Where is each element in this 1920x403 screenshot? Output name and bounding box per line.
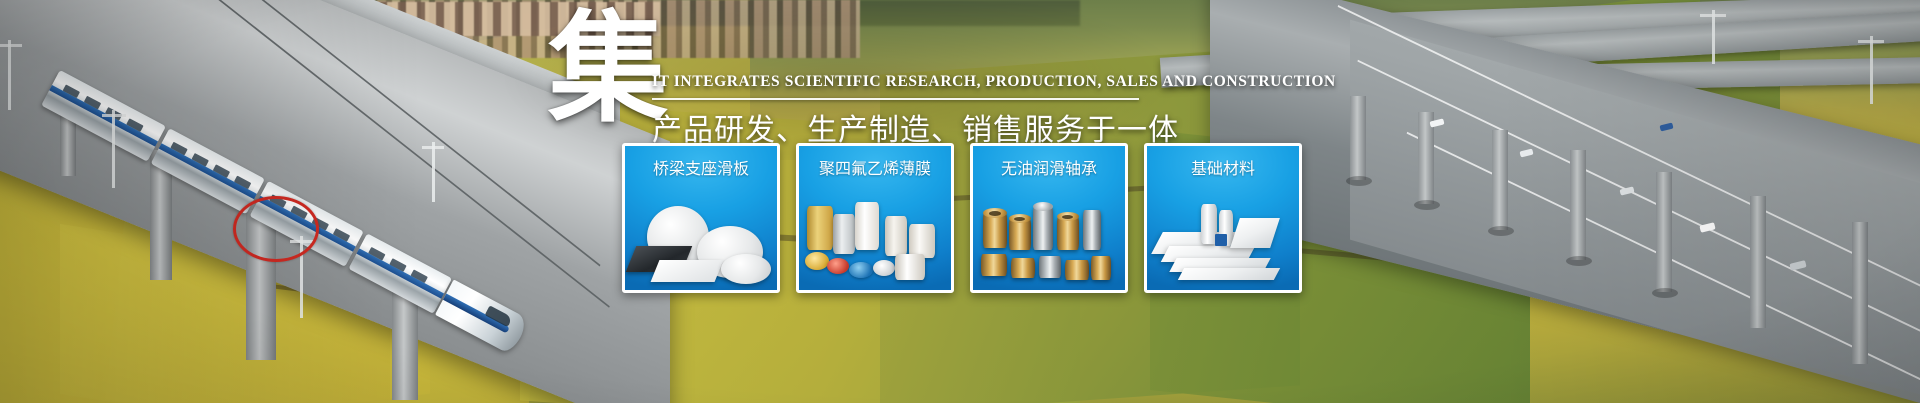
product-card-oil-free-bearing[interactable]: 无油润滑轴承 <box>970 143 1128 293</box>
hero-banner: 集 IT INTEGRATES SCIENTIFIC RESEARCH, PRO… <box>0 0 1920 403</box>
product-card-title: 聚四氟乙烯薄膜 <box>799 155 951 179</box>
product-card-base-material[interactable]: 基础材料 <box>1144 143 1302 293</box>
tagline-english: IT INTEGRATES SCIENTIFIC RESEARCH, PRODU… <box>652 73 1336 91</box>
product-card-title: 无油润滑轴承 <box>973 155 1125 179</box>
product-image-oil-free-bearings <box>973 188 1125 290</box>
product-card-bridge-bearing-slide-plate[interactable]: 桥梁支座滑板 <box>622 143 780 293</box>
product-image-base-materials <box>1147 188 1299 290</box>
product-card-ptfe-film[interactable]: 聚四氟乙烯薄膜 <box>796 143 954 293</box>
brand-character: 集 <box>548 10 668 130</box>
headline-divider <box>652 98 1139 100</box>
product-image-bridge-bearing-slide-plate <box>625 188 777 290</box>
product-image-ptfe-film-rolls <box>799 188 951 290</box>
product-card-title: 基础材料 <box>1147 155 1299 179</box>
product-card-title: 桥梁支座滑板 <box>625 155 777 179</box>
headline-block: 集 IT INTEGRATES SCIENTIFIC RESEARCH, PRO… <box>548 18 1188 138</box>
product-card-list: 桥梁支座滑板 聚四氟乙烯薄膜 <box>622 143 1302 293</box>
